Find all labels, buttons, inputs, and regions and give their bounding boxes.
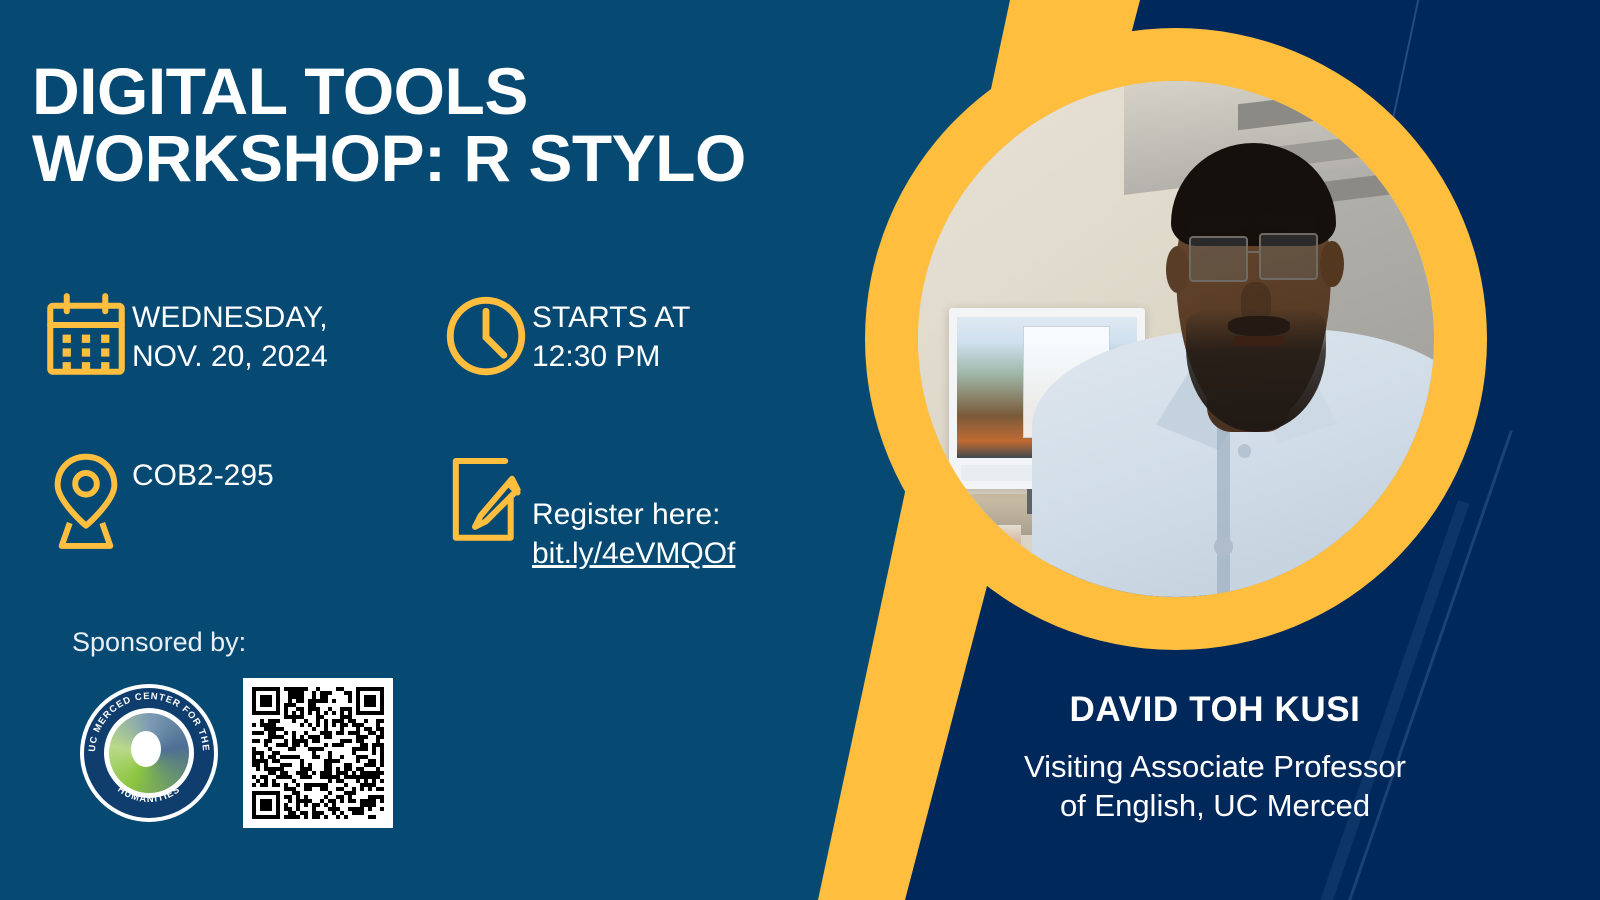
register-label: Register here: — [532, 498, 720, 531]
location-text: COB2-295 — [132, 450, 274, 495]
map-pin-icon — [40, 450, 132, 550]
photo-person-mouth — [1233, 336, 1285, 345]
date-text: WEDNESDAY, NOV. 20, 2024 — [132, 292, 328, 376]
uc-merced-center-for-the-humanities-logo: UC MERCED CENTER FOR THE HUMANITIES — [80, 684, 218, 822]
photo-shirt-button — [1238, 444, 1251, 457]
detail-time: STARTS AT 12:30 PM — [440, 292, 830, 380]
registration-qr-code[interactable] — [243, 678, 393, 828]
photo-eyeglass-lens — [1259, 233, 1318, 279]
speaker-block: DAVID TOH KUSI Visiting Associate Profes… — [985, 690, 1445, 825]
event-details: WEDNESDAY, NOV. 20, 2024 STARTS AT 12:30… — [40, 292, 830, 612]
photo-person-ear — [1320, 241, 1343, 287]
photo-person-ear — [1166, 246, 1189, 292]
register-text: Register here: bit.ly/4eVMQOf — [532, 450, 735, 612]
speaker-title: Visiting Associate Professor of English,… — [985, 747, 1445, 825]
clock-icon — [440, 292, 532, 380]
seal-top-arc-text: UC MERCED CENTER FOR THE — [86, 690, 212, 752]
qr-modules — [252, 687, 384, 819]
document-pencil-icon — [440, 450, 532, 546]
details-row-2: COB2-295 Register here: bit.ly/4eVMQOf — [40, 450, 830, 612]
sponsored-by-label: Sponsored by: — [72, 627, 246, 658]
photo-shirt-button — [1214, 537, 1233, 556]
speaker-photo — [918, 81, 1434, 597]
calendar-icon — [40, 292, 132, 380]
time-text: STARTS AT 12:30 PM — [532, 292, 690, 376]
detail-location: COB2-295 — [40, 450, 440, 612]
seal-bottom-arc-text: HUMANITIES — [116, 783, 182, 804]
portrait-yellow-ring — [865, 28, 1487, 650]
seal-text: UC MERCED CENTER FOR THE HUMANITIES — [80, 684, 218, 822]
photo-papers — [918, 525, 1021, 561]
detail-date: WEDNESDAY, NOV. 20, 2024 — [40, 292, 440, 380]
photo-eyeglass-bridge — [1247, 251, 1260, 253]
event-flyer: DIGITAL TOOLS WORKSHOP: R STYLO — [0, 0, 1600, 900]
details-row-1: WEDNESDAY, NOV. 20, 2024 STARTS AT 12:30… — [40, 292, 830, 380]
flyer-title: DIGITAL TOOLS WORKSHOP: R STYLO — [32, 58, 792, 193]
register-url-link[interactable]: bit.ly/4eVMQOf — [532, 534, 735, 573]
photo-person-mustache — [1228, 316, 1290, 337]
detail-register[interactable]: Register here: bit.ly/4eVMQOf — [440, 450, 830, 612]
photo-shirt-placket — [1217, 422, 1230, 597]
speaker-name: DAVID TOH KUSI — [985, 690, 1445, 730]
photo-eyeglass-lens — [1189, 236, 1248, 282]
